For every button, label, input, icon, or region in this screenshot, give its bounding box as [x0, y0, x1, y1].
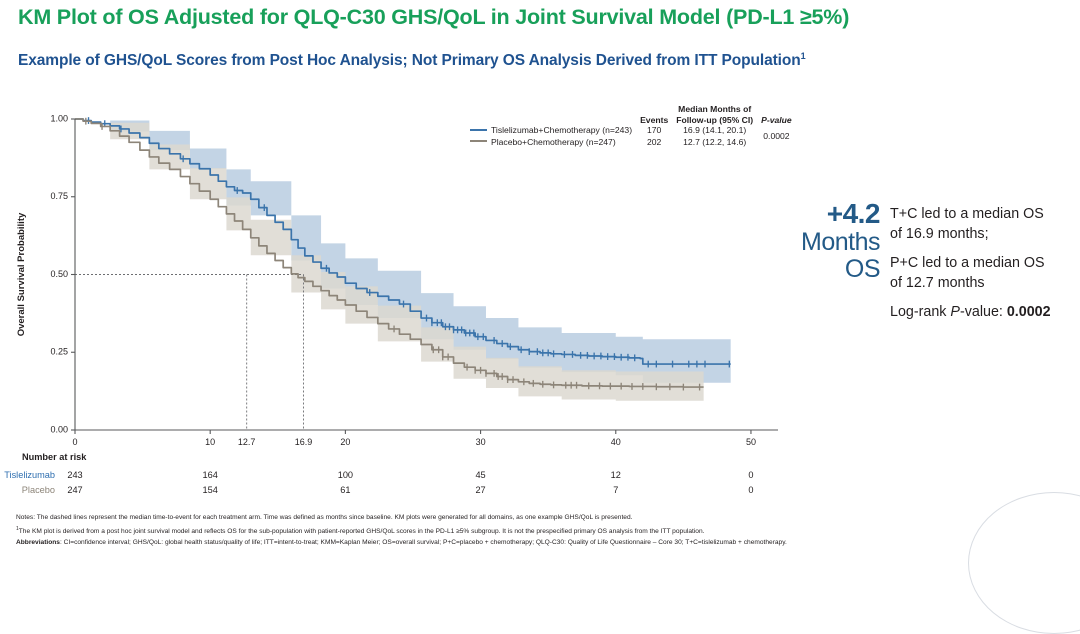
y-tick-label-0.75: 0.75	[50, 191, 68, 201]
number-at-risk-value: 27	[461, 485, 501, 495]
legend-table: Events Median Months of Follow-up (95% C…	[468, 104, 796, 148]
x-tick-label-10: 10	[205, 437, 215, 447]
legend-header-pvalue-text: P-value	[761, 115, 792, 125]
number-at-risk-value: 243	[55, 470, 95, 480]
callout-os-word: OS	[800, 257, 880, 282]
number-at-risk-table: Number at risk Tislelizumab 243164100451…	[0, 452, 800, 504]
legend-header-blank	[468, 104, 636, 125]
callout-headline: +4.2 Months OS	[800, 200, 880, 322]
page-title: KM Plot of OS Adjusted for QLQ-C30 GHS/Q…	[18, 4, 1062, 30]
footnote-abbreviations-text: : CI=confidence interval; GHS/QoL: globa…	[60, 539, 787, 546]
x-tick-label-20: 20	[340, 437, 350, 447]
number-at-risk-value: 7	[596, 485, 636, 495]
page-subtitle-superscript: 1	[801, 51, 806, 61]
callout-pc-line2: of 12.7 months	[890, 275, 985, 291]
number-at-risk-value: 0	[731, 485, 771, 495]
callout-logrank-rest: -value:	[960, 304, 1007, 320]
x-tick-label-30: 30	[476, 437, 486, 447]
legend-label-placebo-text: Placebo+Chemotherapy (n=247)	[491, 137, 616, 147]
legend-label-placebo: Placebo+Chemotherapy (n=247)	[468, 137, 636, 149]
number-at-risk-label-tislelizumab: Tislelizumab	[0, 470, 55, 480]
x-tick-label-median-12.7: 12.7	[238, 437, 256, 447]
number-at-risk-row-tislelizumab: Tislelizumab 24316410045120	[0, 470, 800, 485]
callout-logrank-value: 0.0002	[1007, 304, 1051, 320]
callout-paragraph-pc: P+C led to a median OS of 12.7 months	[890, 253, 1072, 293]
callout-paragraph-tc: T+C led to a median OS of 16.9 months;	[890, 204, 1072, 244]
number-at-risk-label-placebo: Placebo	[0, 485, 55, 495]
number-at-risk-value: 154	[190, 485, 230, 495]
callout-logrank-label: Log-rank	[890, 304, 950, 320]
number-at-risk-row-placebo: Placebo 247154612770	[0, 485, 800, 500]
y-tick-label-0.50: 0.50	[50, 269, 68, 279]
y-tick-label-0.25: 0.25	[50, 347, 68, 357]
x-tick-label-median-16.9: 16.9	[295, 437, 313, 447]
slide-root: KM Plot of OS Adjusted for QLQ-C30 GHS/Q…	[0, 0, 1080, 560]
legend-header-events: Events	[636, 104, 672, 125]
callout-months-word: Months	[800, 230, 880, 255]
legend-header-row: Events Median Months of Follow-up (95% C…	[468, 104, 796, 125]
legend-header-pvalue: P-value	[757, 104, 796, 125]
callout-paragraph-logrank: Log-rank P-value: 0.0002	[890, 302, 1072, 322]
legend-median-tislelizumab: 16.9 (14.1, 20.1)	[672, 125, 757, 137]
legend-pvalue-value: 0.0002	[757, 125, 796, 148]
legend-row-tislelizumab: Tislelizumab+Chemotherapy (n=243) 170 16…	[468, 125, 796, 137]
number-at-risk-value: 45	[461, 470, 501, 480]
chart-legend: Events Median Months of Follow-up (95% C…	[468, 104, 840, 148]
legend-header-median-line2: Follow-up (95% CI)	[676, 115, 753, 125]
number-at-risk-value: 247	[55, 485, 95, 495]
callout-tc-line1: T+C led to a median OS	[890, 206, 1044, 222]
x-tick-label-50: 50	[746, 437, 756, 447]
page-subtitle: Example of GHS/QoL Scores from Post Hoc …	[18, 46, 1062, 71]
legend-swatch-placebo	[470, 140, 487, 142]
callout-tc-line2: of 16.9 months;	[890, 226, 989, 242]
page-subtitle-text: Example of GHS/QoL Scores from Post Hoc …	[18, 52, 801, 69]
number-at-risk-value: 0	[731, 470, 771, 480]
legend-header-median: Median Months of Follow-up (95% CI)	[672, 104, 757, 125]
number-at-risk-title: Number at risk	[22, 452, 86, 462]
legend-label-tislelizumab: Tislelizumab+Chemotherapy (n=243)	[468, 125, 636, 137]
number-at-risk-value: 164	[190, 470, 230, 480]
footnotes: Notes: The dashed lines represent the me…	[16, 512, 1068, 549]
callout-logrank-p: P	[950, 304, 960, 320]
callout-pc-line1: P+C led to a median OS	[890, 255, 1045, 271]
os-benefit-callout: +4.2 Months OS T+C led to a median OS of…	[800, 200, 1072, 322]
footnote-km-derivation: 1The KM plot is derived from a post hoc …	[16, 524, 1068, 538]
footnote-abbreviations-label: Abbreviations	[16, 539, 60, 546]
number-at-risk-value: 12	[596, 470, 636, 480]
number-at-risk-value: 100	[325, 470, 365, 480]
callout-delta-months: +4.2	[800, 200, 880, 228]
legend-row-placebo: Placebo+Chemotherapy (n=247) 202 12.7 (1…	[468, 137, 796, 149]
legend-header-median-line1: Median Months of	[678, 104, 751, 114]
x-tick-label-40: 40	[611, 437, 621, 447]
footnote-abbreviations: Abbreviations: CI=confidence interval; G…	[16, 537, 1068, 549]
legend-events-placebo: 202	[636, 137, 672, 149]
y-tick-label-1.00: 1.00	[50, 113, 68, 123]
legend-events-tislelizumab: 170	[636, 125, 672, 137]
footnote-notes: Notes: The dashed lines represent the me…	[16, 512, 1068, 524]
number-at-risk-value: 61	[325, 485, 365, 495]
footnote-km-derivation-text: The KM plot is derived from a post hoc j…	[19, 528, 705, 535]
y-axis-title: Overall Survival Probability	[16, 212, 27, 336]
y-tick-label-0.00: 0.00	[50, 424, 68, 434]
legend-label-tislelizumab-text: Tislelizumab+Chemotherapy (n=243)	[491, 125, 632, 135]
legend-median-placebo: 12.7 (12.2, 14.6)	[672, 137, 757, 149]
x-tick-label-0: 0	[72, 437, 77, 447]
callout-body: T+C led to a median OS of 16.9 months; P…	[890, 200, 1072, 322]
legend-swatch-tislelizumab	[470, 129, 487, 131]
